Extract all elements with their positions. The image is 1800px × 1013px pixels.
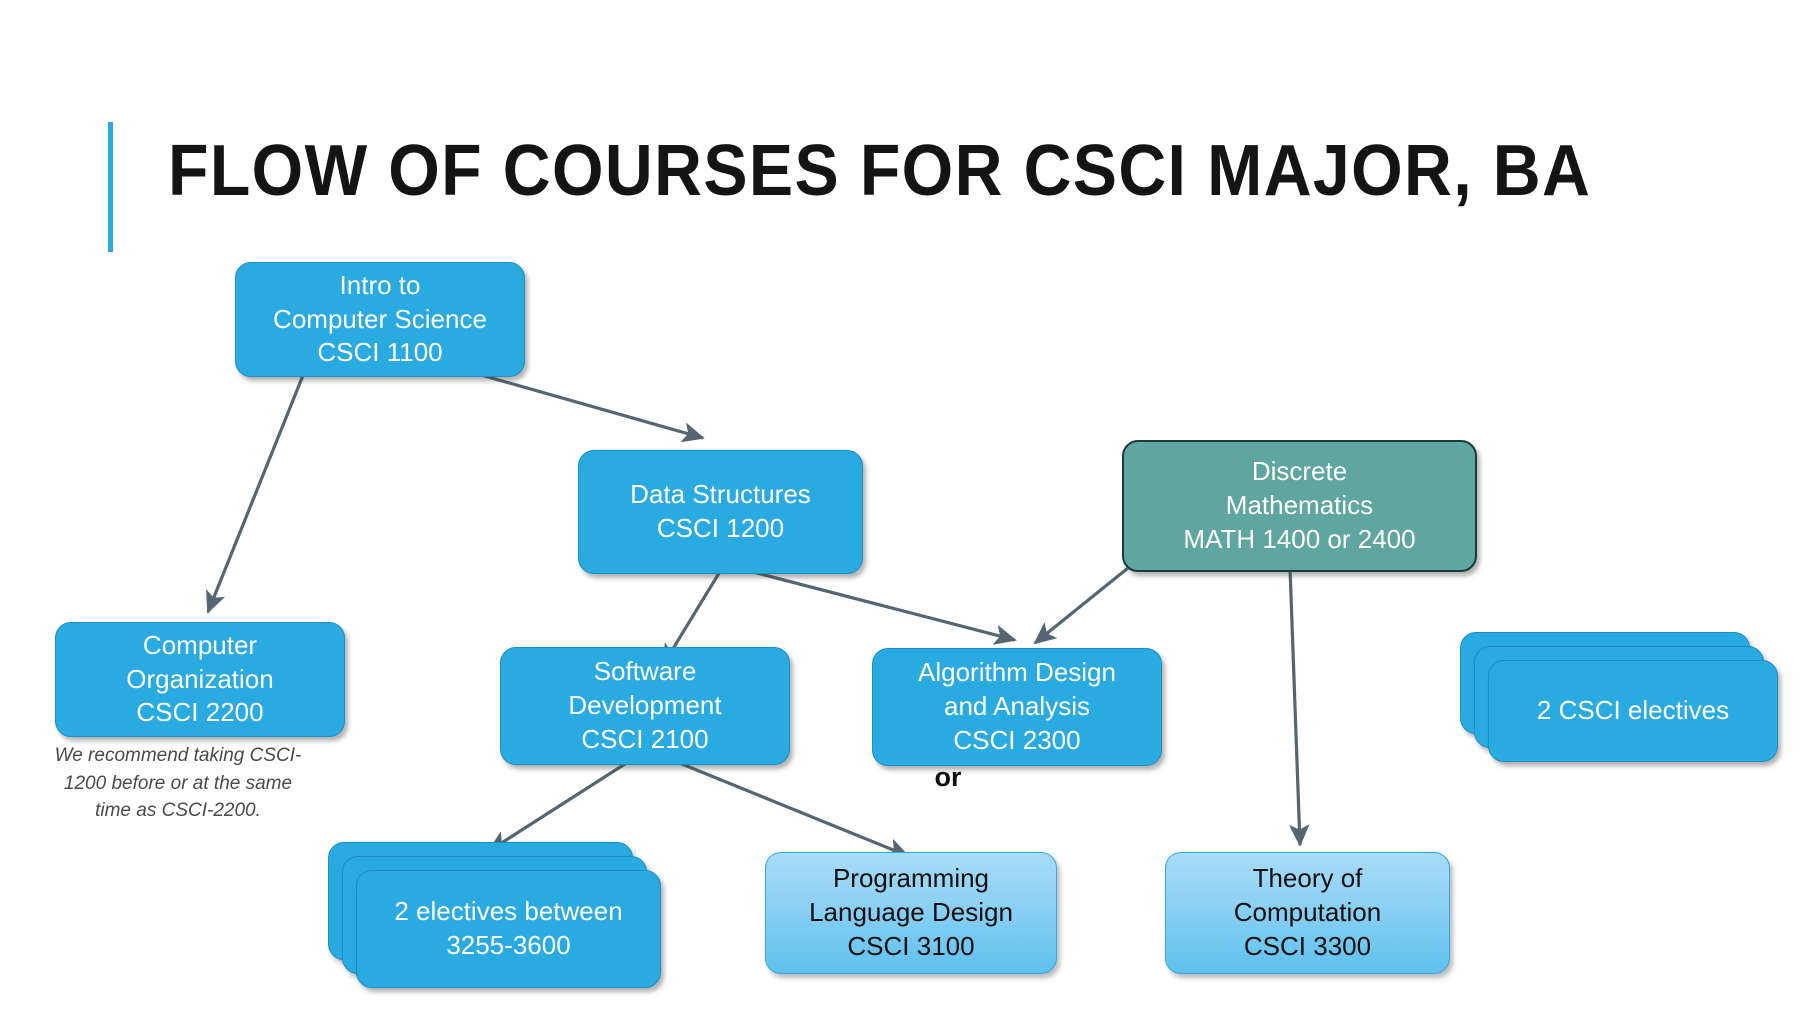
page-title: FLOW OF COURSES FOR CSCI MAJOR, BA: [168, 135, 1548, 207]
node-line-2: Computer Science: [246, 303, 514, 337]
node-csci-electives-stack[interactable]: 2 CSCI electives: [1460, 632, 1780, 762]
node-line-3: MATH 1400 or 2400: [1134, 523, 1465, 557]
node-line-3: CSCI 2100: [511, 723, 779, 757]
node-discrete-mathematics[interactable]: Discrete Mathematics MATH 1400 or 2400: [1122, 440, 1477, 572]
node-line-3: CSCI 3300: [1176, 930, 1439, 964]
node-csci-electives[interactable]: 2 CSCI electives: [1488, 660, 1778, 762]
node-intro-to-computer-science[interactable]: Intro to Computer Science CSCI 1100: [235, 262, 525, 377]
node-line-1: 2 CSCI electives: [1537, 694, 1729, 728]
node-line-1: Intro to: [246, 269, 514, 303]
edge-datastructures-to-algorithms: [730, 566, 1015, 640]
node-line-3: CSCI 1100: [246, 336, 514, 370]
node-line-3: CSCI 2200: [66, 696, 334, 730]
node-data-structures[interactable]: Data Structures CSCI 1200: [578, 450, 863, 574]
edge-discretemath-to-algorithms: [1035, 568, 1128, 643]
node-line-2: Mathematics: [1134, 489, 1465, 523]
node-line-1: Computer: [66, 629, 334, 663]
node-line-2: CSCI 1200: [589, 512, 852, 546]
node-line-2: Organization: [66, 663, 334, 697]
node-line-3: CSCI 2300: [883, 724, 1151, 758]
node-line-2: Computation: [1176, 896, 1439, 930]
node-algorithm-design[interactable]: Algorithm Design and Analysis CSCI 2300: [872, 648, 1162, 766]
node-line-3: CSCI 3100: [776, 930, 1046, 964]
node-line-1: Programming: [776, 862, 1046, 896]
node-line-1: Algorithm Design: [883, 656, 1151, 690]
node-line-1: Discrete: [1134, 455, 1465, 489]
node-line-1: Software: [511, 655, 779, 689]
node-line-2: Language Design: [776, 896, 1046, 930]
edge-intro-to-computerorg: [208, 338, 318, 612]
node-electives-range[interactable]: 2 electives between 3255-3600: [356, 870, 661, 988]
recommendation-note: We recommend taking CSCI-1200 before or …: [48, 742, 308, 825]
node-computer-organization[interactable]: Computer Organization CSCI 2200: [55, 622, 345, 737]
node-software-development[interactable]: Software Development CSCI 2100: [500, 647, 790, 765]
title-accent-bar: [108, 122, 113, 252]
node-line-1: 2 electives between: [394, 895, 622, 929]
node-line-2: Development: [511, 689, 779, 723]
slide-canvas: FLOW OF COURSES FOR CSCI MAJOR, BA: [0, 0, 1800, 1013]
edge-softwaredev-to-electivesrange: [489, 762, 628, 851]
node-line-1: Theory of: [1176, 862, 1439, 896]
edge-discretemath-to-theory: [1290, 568, 1300, 845]
node-line-2: and Analysis: [883, 690, 1151, 724]
node-programming-language-design[interactable]: Programming Language Design CSCI 3100: [765, 852, 1057, 974]
node-line-2: 3255-3600: [394, 929, 622, 963]
node-line-1: Data Structures: [589, 478, 852, 512]
node-electives-range-stack[interactable]: 2 electives between 3255-3600: [328, 842, 668, 987]
or-label: or: [918, 762, 978, 793]
edge-softwaredev-to-proglang: [672, 760, 908, 856]
node-theory-of-computation[interactable]: Theory of Computation CSCI 3300: [1165, 852, 1450, 974]
